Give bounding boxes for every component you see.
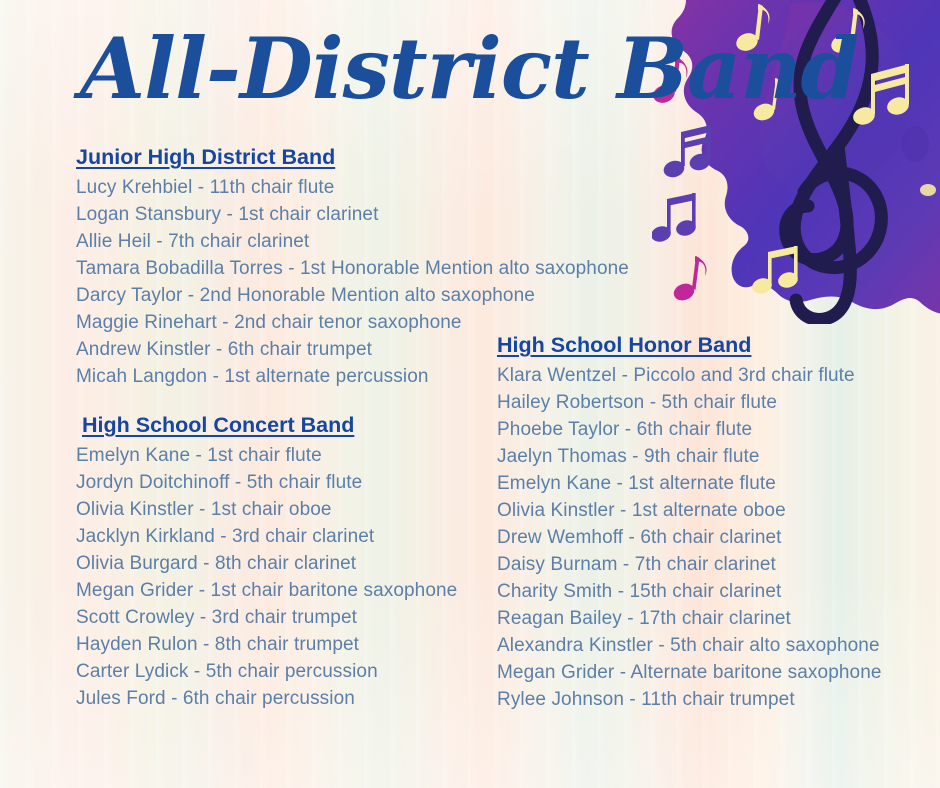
list-item: Daisy Burnam - 7th chair clarinet <box>497 551 927 578</box>
list-item: Phoebe Taylor - 6th chair flute <box>497 416 927 443</box>
list-item: Klara Wentzel - Piccolo and 3rd chair fl… <box>497 362 927 389</box>
member-list-high-school-honor-band: Klara Wentzel - Piccolo and 3rd chair fl… <box>497 362 927 713</box>
list-item: Charity Smith - 15th chair clarinet <box>497 578 927 605</box>
list-item: Olivia Kinstler - 1st alternate oboe <box>497 497 927 524</box>
list-item: Megan Grider - Alternate baritone saxoph… <box>497 659 927 686</box>
list-item: Reagan Bailey - 17th chair clarinet <box>497 605 927 632</box>
list-item: Hailey Robertson - 5th chair flute <box>497 389 927 416</box>
list-item: Allie Heil - 7th chair clarinet <box>76 228 676 255</box>
group-heading-high-school-honor-band: High School Honor Band <box>497 332 927 359</box>
list-item: Logan Stansbury - 1st chair clarinet <box>76 201 676 228</box>
list-item: Lucy Krehbiel - 11th chair flute <box>76 174 676 201</box>
list-item: Rylee Johnson - 11th chair trumpet <box>497 686 927 713</box>
list-item: Drew Wemhoff - 6th chair clarinet <box>497 524 927 551</box>
right-column: High School Honor Band Klara Wentzel - P… <box>497 332 927 717</box>
page-title: All-District Band <box>72 6 692 126</box>
list-item: Emelyn Kane - 1st alternate flute <box>497 470 927 497</box>
band-group-high-school-honor-band: High School Honor Band Klara Wentzel - P… <box>497 332 927 713</box>
page-title-text: All-District Band <box>73 19 858 118</box>
group-heading-junior-high-district-band: Junior High District Band <box>76 144 676 171</box>
list-item: Jaelyn Thomas - 9th chair flute <box>497 443 927 470</box>
poster-canvas: All-District Band Junior High District B… <box>0 0 940 788</box>
list-item: Alexandra Kinstler - 5th chair alto saxo… <box>497 632 927 659</box>
list-item: Tamara Bobadilla Torres - 1st Honorable … <box>76 255 676 282</box>
list-item: Darcy Taylor - 2nd Honorable Mention alt… <box>76 282 676 309</box>
